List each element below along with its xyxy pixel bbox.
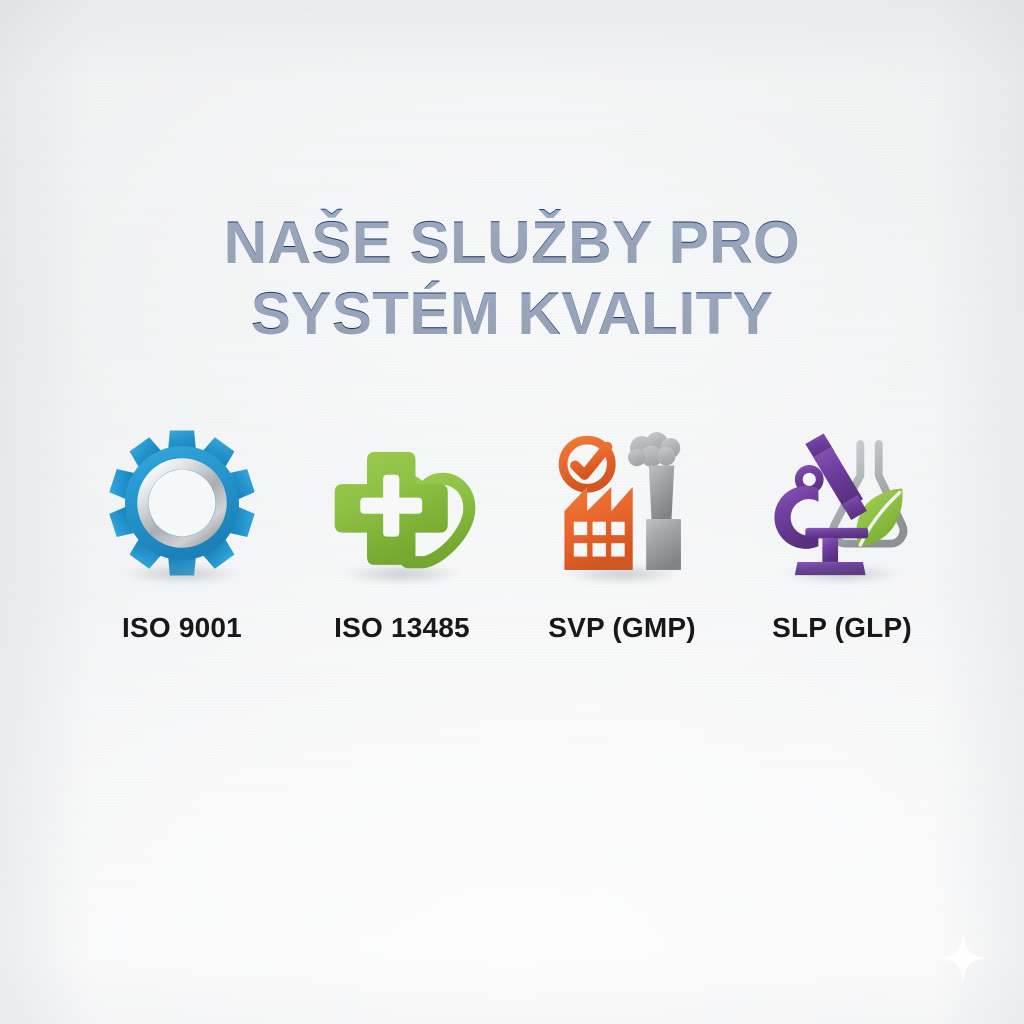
page-title-line-2: SYSTÉM KVALITY (0, 279, 1024, 350)
factory-checkmark-icon (547, 428, 697, 578)
microscope-shape (774, 434, 868, 576)
checkmark-shape (575, 447, 607, 475)
services-row: ISO 9001 (72, 428, 952, 644)
sparkle-icon (940, 932, 986, 984)
microscope-flask-leaf-icon-stage (766, 428, 918, 578)
page-title-line-1: NAŠE SLUŽBY PRO (0, 208, 1024, 279)
smoke-cloud-shape (628, 432, 680, 467)
service-label-slp-glp: SLP (GLP) (772, 612, 912, 644)
medical-cross-heart-icon (326, 433, 478, 573)
page-title: NAŠE SLUŽBY PRO SYSTÉM KVALITY (0, 208, 1024, 350)
service-item-iso-13485[interactable]: ISO 13485 (292, 428, 512, 644)
service-label-iso-9001: ISO 9001 (122, 612, 242, 644)
service-label-svp-gmp: SVP (GMP) (548, 612, 696, 644)
factory-checkmark-icon-stage (546, 428, 698, 578)
medical-cross-heart-icon-stage (326, 428, 478, 578)
service-item-slp-glp[interactable]: SLP (GLP) (732, 428, 952, 644)
chimney-shape (649, 466, 674, 520)
poster-canvas: NAŠE SLUŽBY PRO SYSTÉM KVALITY (0, 0, 1024, 1024)
gear-icon (108, 429, 256, 577)
service-item-svp-gmp[interactable]: SVP (GMP) (512, 428, 732, 644)
gear-icon-stage (106, 428, 258, 578)
gray-building-shape (646, 519, 681, 570)
service-label-iso-13485: ISO 13485 (334, 612, 470, 644)
service-item-iso-9001[interactable]: ISO 9001 (72, 428, 292, 644)
microscope-flask-leaf-icon (766, 428, 918, 578)
